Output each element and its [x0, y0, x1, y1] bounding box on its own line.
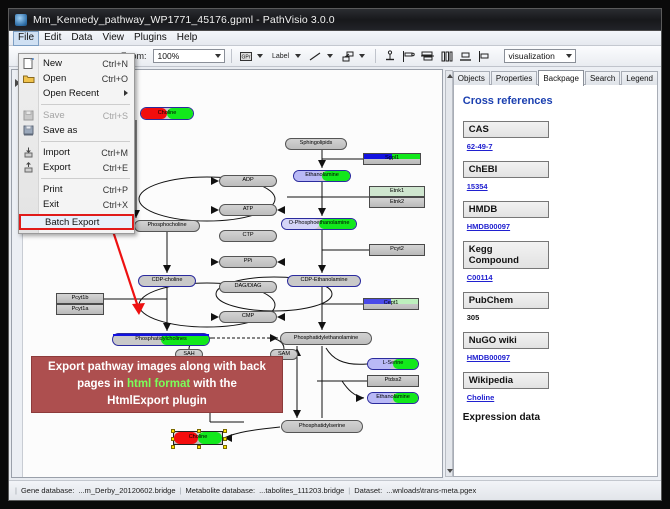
- zoom-value: 100%: [158, 51, 180, 61]
- backpage-content: Cross references CAS62-49-7ChEBI15354HMD…: [453, 84, 658, 477]
- pathway-node-label: Phosphocholine: [147, 223, 186, 229]
- gene-db-value: ...m_Derby_20120602.bridge: [78, 486, 175, 495]
- label-tool-icon[interactable]: Label: [270, 49, 292, 64]
- pathway-node-ppi[interactable]: PPi: [219, 256, 277, 268]
- menu-separator-2: [41, 141, 130, 142]
- callout-line2-a: pages in: [77, 378, 127, 390]
- menu-item-open-recent-label: Open Recent: [43, 88, 134, 99]
- gene-product-dropdown-icon[interactable]: [257, 54, 263, 58]
- status-divider-2: |: [348, 486, 350, 495]
- menu-item-save: Save Ctrl+S: [19, 108, 134, 123]
- callout-line1: Export pathway images along with back: [48, 361, 266, 373]
- xref-value-wikipedia[interactable]: Choline: [467, 393, 648, 402]
- expression-data-heading: Expression data: [463, 412, 648, 423]
- xref-value-hmdb[interactable]: HMDB00097: [467, 222, 648, 231]
- menu-item-print[interactable]: Print Ctrl+P: [19, 182, 134, 197]
- menu-item-new-label: New: [43, 58, 102, 69]
- chevron-down-icon-3[interactable]: [447, 469, 453, 473]
- label-dropdown-icon[interactable]: [295, 54, 301, 58]
- menu-separator-3: [41, 178, 130, 179]
- pathway-node-ctp[interactable]: CTP: [219, 230, 277, 242]
- menu-edit[interactable]: Edit: [39, 31, 66, 46]
- window-title: Mm_Kennedy_pathway_WP1771_45176.gpml - P…: [33, 14, 335, 26]
- menu-item-export-accel: Ctrl+E: [103, 163, 134, 173]
- menu-plugins[interactable]: Plugins: [129, 31, 172, 46]
- menu-item-save-as[interactable]: Save as: [19, 123, 134, 138]
- menu-item-export-label: Export: [43, 162, 103, 173]
- pathway-node-label: Cept1: [384, 301, 399, 307]
- xref-header-nugo-wiki: NuGO wiki: [463, 332, 549, 349]
- pathway-node-label: CDP-Ethanolamine: [300, 278, 347, 284]
- menu-item-new-accel: Ctrl+N: [102, 59, 134, 69]
- toolbar-separator-2: [375, 49, 376, 63]
- pathway-node-label: Pcyt2: [390, 247, 404, 253]
- menu-item-open[interactable]: Open Ctrl+O: [19, 71, 134, 86]
- pathvisio-icon: [15, 14, 27, 26]
- pathway-node-phosphatidylserine[interactable]: Phosphatidylserine: [281, 420, 363, 433]
- menu-item-print-accel: Ctrl+P: [103, 185, 134, 195]
- xref-value-cas[interactable]: 62-49-7: [467, 142, 648, 151]
- xref-header-chebi: ChEBI: [463, 161, 549, 178]
- xref-value-nugo-wiki[interactable]: HMDB00097: [467, 353, 648, 362]
- new-file-icon: [23, 58, 35, 69]
- pathway-node-ethanolamine-1[interactable]: Ethanolamine: [293, 170, 351, 182]
- pathway-node-choline-bottom[interactable]: Choline: [173, 431, 223, 445]
- pathway-node-label: Ethanolamine: [376, 395, 410, 401]
- submenu-arrow-icon: [124, 90, 128, 96]
- xref-header-cas: CAS: [463, 121, 549, 138]
- title-bar: Mm_Kennedy_pathway_WP1771_45176.gpml - P…: [9, 9, 661, 31]
- svg-text:GPr: GPr: [241, 54, 250, 60]
- screenshot-frame: Mm_Kennedy_pathway_WP1771_45176.gpml - P…: [0, 0, 670, 509]
- menu-item-open-accel: Ctrl+O: [102, 74, 134, 84]
- menu-view[interactable]: View: [97, 31, 129, 46]
- pathway-node-ptdss2[interactable]: Ptdss2: [367, 375, 419, 387]
- selection-handle-2[interactable]: [223, 429, 227, 433]
- selection-handle-4[interactable]: [223, 437, 227, 441]
- pathway-node-label: PPi: [244, 259, 253, 265]
- save-as-icon: [23, 125, 35, 136]
- menu-data[interactable]: Data: [66, 31, 97, 46]
- dataset-value: ...wnloads\trans-meta.pgex: [386, 486, 476, 495]
- line-dropdown-icon[interactable]: [327, 54, 333, 58]
- pathway-node-etnk2[interactable]: Etnk2: [369, 197, 425, 208]
- menu-item-export[interactable]: Export Ctrl+E: [19, 160, 134, 175]
- menu-item-save-label: Save: [43, 110, 103, 121]
- menu-item-print-label: Print: [43, 184, 103, 195]
- selection-handle-0[interactable]: [171, 429, 175, 433]
- pathway-node-l-serine[interactable]: L-Serine: [367, 358, 419, 370]
- tab-objects[interactable]: Objects: [453, 71, 490, 85]
- xref-value-kegg-compound[interactable]: C00114: [467, 273, 648, 282]
- menu-item-exit[interactable]: Exit Ctrl+X: [19, 197, 134, 212]
- label-tool-text: Label: [272, 53, 289, 60]
- cross-reference-list: CAS62-49-7ChEBI15354HMDBHMDB00097Kegg Co…: [463, 121, 648, 402]
- menu-separator-1: [41, 104, 130, 105]
- xref-header-pubchem: PubChem: [463, 292, 549, 309]
- pathway-node-phosphatidylethanolamine[interactable]: Phosphatidylethanolamine: [280, 332, 372, 345]
- selection-handle-6[interactable]: [197, 445, 201, 449]
- xref-header-hmdb: HMDB: [463, 201, 549, 218]
- menu-item-exit-accel: Ctrl+X: [103, 200, 134, 210]
- pathway-node-cept1[interactable]: Cept1: [363, 298, 419, 310]
- pathway-node-label: L-Serine: [383, 361, 404, 367]
- gene-db-label: Gene database:: [21, 486, 74, 495]
- pathway-node-label: Choline: [158, 111, 177, 117]
- menu-item-new[interactable]: New Ctrl+N: [19, 56, 134, 71]
- panel-tab-row: Objects Properties Backpage Search Legen…: [453, 70, 658, 85]
- align-distribute-icon[interactable]: [439, 49, 455, 64]
- dataset-label: Dataset:: [354, 486, 382, 495]
- xref-link[interactable]: C00114: [467, 273, 493, 282]
- pathway-node-label: Etnk2: [390, 200, 404, 206]
- pathway-node-label: ADP: [242, 178, 253, 184]
- pathway-node-label: Sphingolipids: [300, 141, 333, 147]
- pathway-node-ethanolamine-2[interactable]: Ethanolamine: [367, 392, 419, 404]
- toolbar-separator: [231, 49, 232, 63]
- menu-item-open-label: Open: [43, 73, 102, 84]
- stack-bottom-icon[interactable]: [458, 49, 474, 64]
- pathway-node-label: Etnk1: [390, 189, 404, 195]
- open-folder-icon: [23, 73, 35, 84]
- menu-item-import-accel: Ctrl+M: [101, 148, 134, 158]
- pathway-node-label: Phosphatidylethanolamine: [294, 336, 358, 342]
- metabolite-db-label: Metabolite database:: [185, 486, 255, 495]
- pathway-node-label: O-Phosphoethanolamine: [289, 221, 350, 227]
- align-left-icon[interactable]: [401, 49, 417, 64]
- pathway-node-pcyt2[interactable]: Pcyt2: [369, 244, 425, 256]
- pathway-node-label: CTP: [242, 233, 253, 239]
- pathway-node-label: Sgpl1: [385, 156, 399, 162]
- align-right-icon[interactable]: [477, 49, 493, 64]
- cross-references-heading: Cross references: [463, 95, 648, 107]
- callout-line2-b: with the: [190, 378, 237, 390]
- pathway-node-label: Pcyt1a: [72, 307, 89, 313]
- pathway-node-cmp[interactable]: CMP: [219, 311, 277, 323]
- pathway-node-o-phosphoethanolamine[interactable]: O-Phosphoethanolamine: [281, 218, 357, 230]
- pathway-node-sgpl1[interactable]: Sgpl1: [363, 153, 421, 165]
- xref-header-kegg-compound: Kegg Compound: [463, 241, 549, 269]
- pathway-node-label: Pcyt1b: [72, 296, 89, 302]
- pathway-node-label: Ptdss2: [385, 378, 402, 384]
- pathway-node-cdp-ethanolamine[interactable]: CDP-Ethanolamine: [287, 275, 361, 287]
- tab-legend[interactable]: Legend: [621, 71, 658, 85]
- menu-item-open-recent[interactable]: Open Recent: [19, 86, 134, 101]
- pathway-node-choline-top[interactable]: Choline: [140, 107, 194, 120]
- menu-item-save-as-label: Save as: [43, 125, 128, 136]
- gene-product-tool-icon[interactable]: GPr: [238, 49, 254, 64]
- status-divider-1: |: [180, 486, 182, 495]
- menu-item-exit-label: Exit: [43, 199, 103, 210]
- pathway-node-adp[interactable]: ADP: [219, 175, 277, 187]
- xref-header-wikipedia: Wikipedia: [463, 372, 549, 389]
- application-window: Mm_Kennedy_pathway_WP1771_45176.gpml - P…: [8, 8, 662, 501]
- file-menu-popup[interactable]: New Ctrl+N Open Ctrl+O Open Recent Save: [18, 53, 135, 234]
- status-divider-0: |: [15, 486, 17, 495]
- callout-line2-highlight: html format: [127, 378, 190, 390]
- xref-link[interactable]: 15354: [467, 182, 488, 191]
- status-bar: | Gene database: ...m_Derby_20120602.bri…: [9, 480, 661, 500]
- xref-value-pubchem: 305: [467, 313, 648, 322]
- chevron-down-icon-2: [566, 54, 572, 58]
- visualization-value: visualization: [509, 51, 555, 61]
- pathway-node-phosphatidylcholines[interactable]: Phosphatidylcholines: [112, 333, 210, 346]
- shape-dropdown-icon[interactable]: [359, 54, 365, 58]
- pathway-node-pcyt1a[interactable]: Pcyt1a: [56, 304, 104, 315]
- menu-item-batch-export-label: Batch Export: [45, 217, 132, 228]
- xref-link[interactable]: HMDB00097: [467, 222, 510, 231]
- metabolite-db-value: ...tabolites_111203.bridge: [259, 486, 344, 495]
- anchor-tool-icon[interactable]: [382, 49, 398, 64]
- selection-handle-5[interactable]: [171, 445, 175, 449]
- pathway-node-label: Choline: [189, 435, 208, 441]
- callout-line3: HtmlExport plugin: [107, 395, 207, 407]
- pathway-node-atp[interactable]: ATP: [219, 204, 277, 216]
- pathway-node-label: Phosphatidylserine: [299, 424, 345, 430]
- menu-help[interactable]: Help: [172, 31, 203, 46]
- pathway-node-label: Phosphatidylcholines: [135, 337, 187, 343]
- xref-link[interactable]: HMDB00097: [467, 353, 510, 362]
- tab-properties[interactable]: Properties: [491, 71, 537, 85]
- xref-value-chebi[interactable]: 15354: [467, 182, 648, 191]
- visualization-combo[interactable]: visualization: [504, 49, 576, 63]
- annotation-callout: Export pathway images along with back pa…: [31, 356, 283, 413]
- side-panel: Objects Properties Backpage Search Legen…: [444, 67, 661, 480]
- panel-collapse-gutter[interactable]: [445, 70, 453, 477]
- menu-item-save-accel: Ctrl+S: [103, 111, 134, 121]
- menu-file[interactable]: File: [13, 31, 39, 46]
- align-center-icon[interactable]: [420, 49, 436, 64]
- chevron-down-icon: [215, 54, 221, 58]
- tab-search[interactable]: Search: [585, 71, 620, 85]
- menu-bar: File Edit Data View Plugins Help: [9, 31, 661, 46]
- menu-item-import[interactable]: Import Ctrl+M: [19, 145, 134, 160]
- selection-handle-7[interactable]: [223, 445, 227, 449]
- save-disk-icon: [23, 110, 35, 121]
- pathway-node-etnk1[interactable]: Etnk1: [369, 186, 425, 197]
- pathway-node-sphingolipids[interactable]: Sphingolipids: [285, 138, 347, 150]
- pathway-node-label: ATP: [243, 207, 253, 213]
- menu-item-import-label: Import: [43, 147, 101, 158]
- menu-item-batch-export[interactable]: Batch Export: [19, 214, 134, 230]
- tab-backpage[interactable]: Backpage: [538, 70, 584, 86]
- pathway-node-label: DAG/DIAG: [235, 284, 262, 290]
- xref-link[interactable]: Choline: [467, 393, 495, 402]
- pathway-node-dag-diag[interactable]: DAG/DIAG: [219, 281, 277, 293]
- export-icon: [23, 162, 35, 173]
- line-tool-icon[interactable]: [308, 49, 324, 64]
- xref-link[interactable]: 62-49-7: [467, 142, 493, 151]
- pathway-node-pcyt1b[interactable]: Pcyt1b: [56, 293, 104, 304]
- pathway-node-phosphocholine[interactable]: Phosphocholine: [134, 220, 200, 232]
- zoom-combo[interactable]: 100%: [153, 49, 225, 63]
- pathway-node-cdp-choline[interactable]: CDP-choline: [138, 275, 196, 287]
- shape-tool-icon[interactable]: [340, 49, 356, 64]
- import-icon: [23, 147, 35, 158]
- pathway-node-label: CMP: [242, 314, 254, 320]
- pathway-node-label: CDP-choline: [152, 278, 183, 284]
- pathway-node-label: Ethanolamine: [305, 173, 339, 179]
